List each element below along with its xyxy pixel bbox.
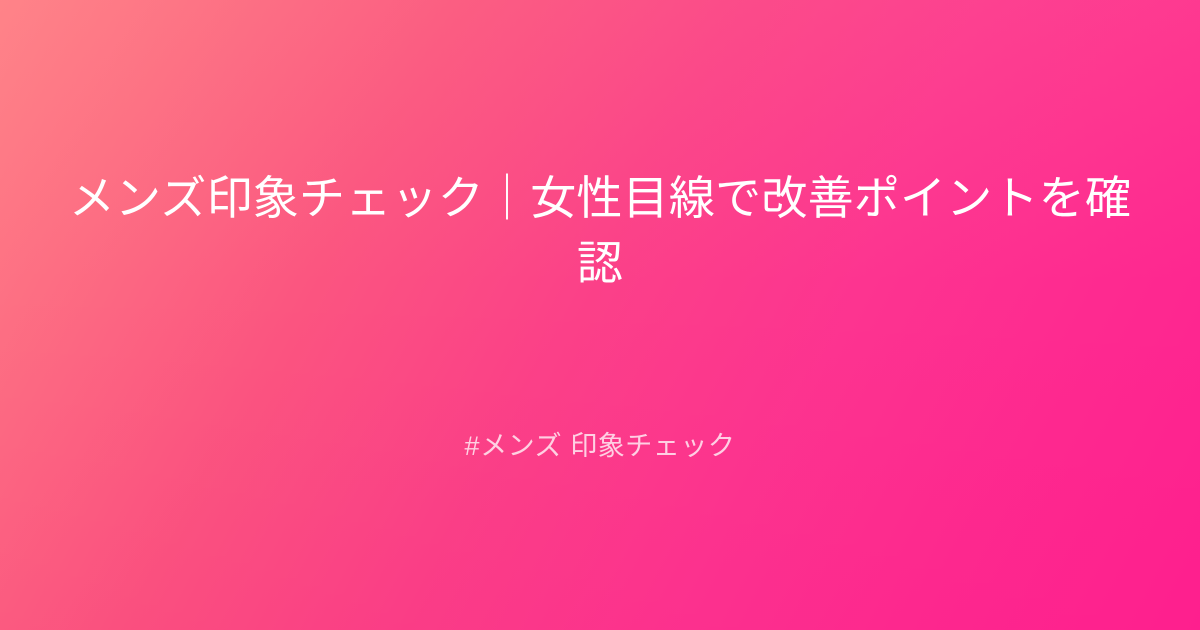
og-share-card: メンズ印象チェック｜女性目線で改善ポイントを確認 #メンズ 印象チェック <box>0 0 1200 630</box>
hashtag-label: #メンズ 印象チェック <box>465 429 736 464</box>
tag-block: #メンズ 印象チェック <box>0 429 1200 464</box>
title-block: メンズ印象チェック｜女性目線で改善ポイントを確認 <box>55 166 1145 297</box>
page-title: メンズ印象チェック｜女性目線で改善ポイントを確認 <box>55 166 1145 297</box>
card-content: メンズ印象チェック｜女性目線で改善ポイントを確認 #メンズ 印象チェック <box>0 166 1200 464</box>
